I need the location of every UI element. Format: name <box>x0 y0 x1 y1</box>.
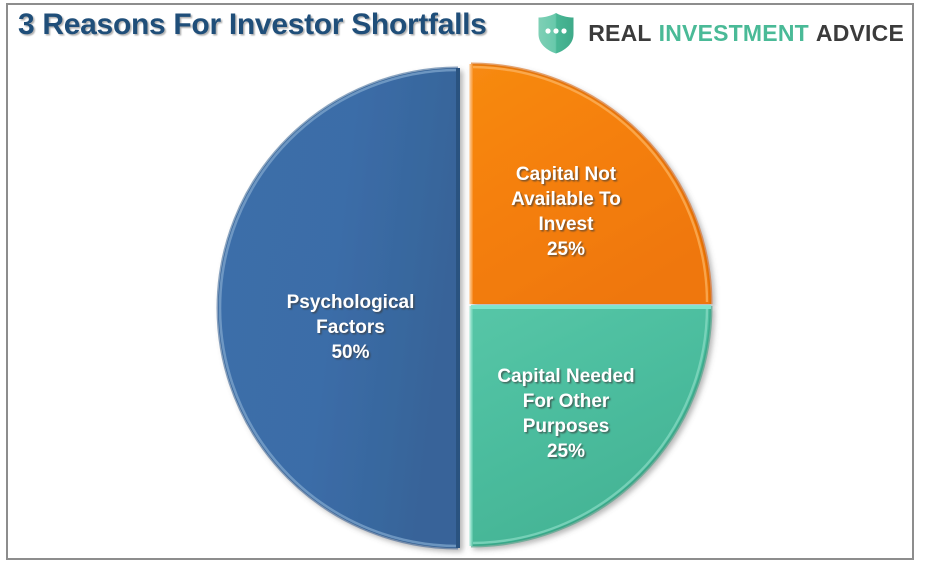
brand-logo: REAL INVESTMENT ADVICE <box>537 12 904 54</box>
pie-chart <box>212 58 718 554</box>
brand-word-investment: INVESTMENT <box>659 20 809 47</box>
pie-slice-psychological-factors <box>218 68 458 548</box>
brand-wordmark: REAL INVESTMENT ADVICE <box>588 20 904 47</box>
header: 3 Reasons For Investor Shortfalls <box>0 0 926 58</box>
shield-dots-icon <box>537 12 575 54</box>
chart-canvas: 3 Reasons For Investor Shortfalls <box>0 0 926 570</box>
brand-word-real: REAL <box>588 20 651 47</box>
pie-slice-capital-needed-other <box>471 306 711 546</box>
pie-slice-capital-not-available <box>471 64 711 304</box>
page-title: 3 Reasons For Investor Shortfalls <box>18 8 487 42</box>
brand-word-advice: ADVICE <box>816 20 904 47</box>
